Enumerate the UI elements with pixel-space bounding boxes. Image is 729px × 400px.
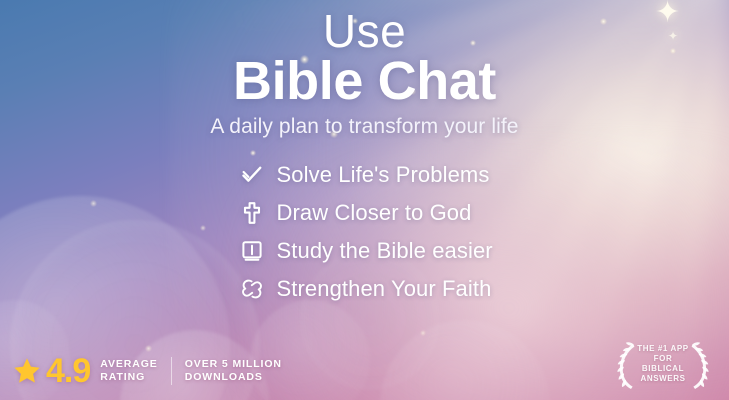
sparkle bbox=[250, 150, 256, 156]
feature-item: Strengthen Your Faith bbox=[239, 276, 491, 302]
feature-label: Solve Life's Problems bbox=[277, 162, 490, 188]
praying-hands-icon bbox=[239, 276, 265, 302]
ad-creative: ✦ ✦ Use Bible Chat A daily plan to trans… bbox=[0, 0, 729, 400]
downloads-caption: OVER 5 MILLION DOWNLOADS bbox=[185, 358, 282, 384]
award-line-1: THE #1 APP bbox=[637, 344, 689, 353]
headline-block: Use Bible Chat A daily plan to transform… bbox=[0, 8, 729, 139]
rating-value: 4.9 bbox=[46, 354, 90, 388]
feature-item: Solve Life's Problems bbox=[239, 162, 491, 188]
downloads-caption-line-1: OVER 5 MILLION bbox=[185, 358, 282, 370]
social-proof-bar: 4.9 AVERAGE RATING OVER 5 MILLION DOWNLO… bbox=[12, 354, 282, 388]
feature-label: Draw Closer to God bbox=[277, 200, 472, 226]
award-line-2: FOR bbox=[654, 354, 673, 363]
title-line-1: Use bbox=[0, 8, 729, 55]
feature-item: Draw Closer to God bbox=[239, 200, 491, 226]
cross-icon bbox=[239, 200, 265, 226]
award-text: THE #1 APP FOR BIBLICAL ANSWERS bbox=[631, 344, 695, 384]
book-icon bbox=[239, 238, 265, 264]
rating-caption-line-1: AVERAGE bbox=[100, 358, 157, 370]
award-line-3: BIBLICAL bbox=[642, 364, 684, 373]
feature-list: Solve Life's Problems Draw Closer to God… bbox=[0, 162, 729, 302]
title-line-2: Bible Chat bbox=[0, 53, 729, 109]
subtitle: A daily plan to transform your life bbox=[0, 115, 729, 139]
rating-caption: AVERAGE RATING bbox=[100, 358, 157, 384]
star-icon bbox=[12, 356, 42, 386]
feature-item: Study the Bible easier bbox=[239, 238, 491, 264]
divider bbox=[171, 357, 172, 385]
bokeh-circle bbox=[380, 320, 550, 400]
award-line-4: ANSWERS bbox=[640, 374, 685, 383]
feature-label: Strengthen Your Faith bbox=[277, 276, 492, 302]
check-icon bbox=[239, 162, 265, 188]
rating-caption-line-2: RATING bbox=[100, 371, 145, 383]
sparkle bbox=[420, 330, 426, 336]
downloads-caption-line-2: DOWNLOADS bbox=[185, 371, 263, 383]
award-badge: THE #1 APP FOR BIBLICAL ANSWERS bbox=[607, 336, 719, 392]
sparkle bbox=[145, 345, 152, 352]
feature-label: Study the Bible easier bbox=[277, 238, 493, 264]
